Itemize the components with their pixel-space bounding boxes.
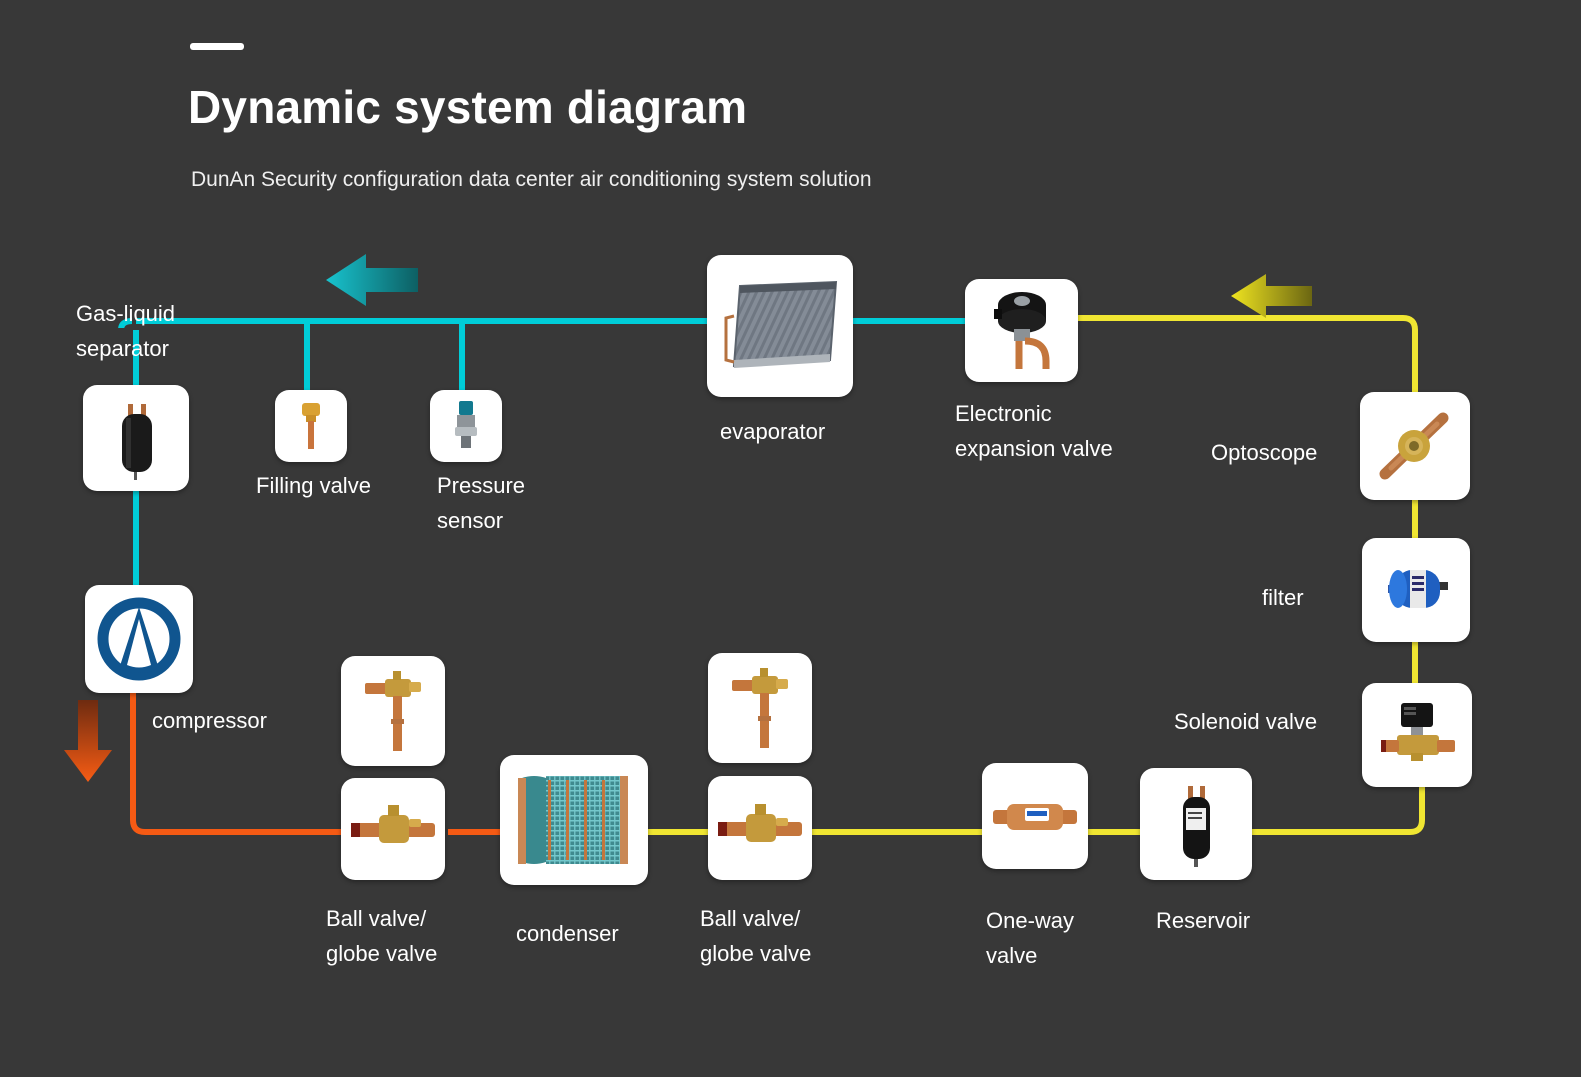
node-ball-valve-right[interactable]	[708, 776, 812, 880]
label-gas-liquid-separator-line2: separator	[76, 331, 169, 366]
label-eev-line1: Electronic	[955, 396, 1052, 431]
ball-valve-icon	[343, 779, 443, 879]
charging-valve-icon	[276, 391, 346, 461]
label-ball-valve-right-line2: globe valve	[700, 936, 811, 971]
node-optoscope[interactable]	[1360, 392, 1470, 500]
suction-line-branch-filling-valve	[304, 321, 310, 393]
node-filling-valve[interactable]	[275, 390, 347, 462]
label-condenser: condenser	[516, 916, 619, 951]
node-compressor[interactable]	[85, 585, 193, 693]
node-globe-valve-right[interactable]	[708, 653, 812, 763]
check-valve-icon	[985, 766, 1085, 866]
suction-line-horizontal	[118, 318, 718, 328]
label-solenoid-valve: Solenoid valve	[1174, 704, 1317, 739]
label-optoscope: Optoscope	[1211, 435, 1317, 470]
label-one-way-valve-line1: One-way	[986, 903, 1074, 938]
node-one-way-valve[interactable]	[982, 763, 1088, 869]
discharge-flow-arrow	[62, 700, 114, 782]
node-electronic-expansion-valve[interactable]	[965, 279, 1078, 382]
condenser-coil-icon	[504, 760, 644, 880]
node-reservoir[interactable]	[1140, 768, 1252, 880]
accumulator-tank-icon	[86, 388, 186, 488]
receiver-tank-icon	[1146, 774, 1246, 874]
liquid-flow-arrow	[1228, 272, 1312, 320]
label-eev-line2: expansion valve	[955, 431, 1113, 466]
node-solenoid-valve[interactable]	[1362, 683, 1472, 787]
page-title: Dynamic system diagram	[188, 80, 747, 134]
label-ball-valve-left-line1: Ball valve/	[326, 901, 426, 936]
diagram-canvas: Dynamic system diagram DunAn Security co…	[0, 0, 1581, 1077]
title-accent-rule	[190, 43, 244, 50]
expansion-valve-icon	[972, 283, 1072, 378]
label-filter: filter	[1262, 580, 1304, 615]
label-filling-valve: Filling valve	[256, 468, 371, 503]
label-ball-valve-left-line2: globe valve	[326, 936, 437, 971]
ball-valve-icon	[710, 778, 810, 878]
node-gas-liquid-separator[interactable]	[83, 385, 189, 491]
filter-drier-icon	[1366, 540, 1466, 640]
page-subtitle: DunAn Security configuration data center…	[191, 168, 872, 192]
label-one-way-valve-line2: valve	[986, 938, 1037, 973]
evaporator-coil-icon	[710, 256, 850, 396]
node-pressure-sensor[interactable]	[430, 390, 502, 462]
label-ball-valve-right-line1: Ball valve/	[700, 901, 800, 936]
node-filter[interactable]	[1362, 538, 1470, 642]
label-pressure-sensor-line2: sensor	[437, 503, 503, 538]
label-compressor: compressor	[152, 703, 267, 738]
node-evaporator[interactable]	[707, 255, 853, 397]
label-pressure-sensor-line1: Pressure	[437, 468, 525, 503]
ball-valve-icon	[343, 661, 443, 761]
label-gas-liquid-separator-line1: Gas-liquid	[76, 296, 175, 331]
suction-flow-arrow	[322, 252, 418, 308]
sight-glass-icon	[1365, 396, 1465, 496]
solenoid-valve-icon	[1367, 685, 1467, 785]
node-globe-valve-left[interactable]	[341, 656, 445, 766]
label-reservoir: Reservoir	[1156, 903, 1250, 938]
ball-valve-icon	[710, 658, 810, 758]
compressor-logo-icon	[89, 589, 189, 689]
suction-line-branch-pressure-sensor	[459, 321, 465, 393]
node-ball-valve-left[interactable]	[341, 778, 445, 880]
label-evaporator: evaporator	[720, 414, 825, 449]
suction-line-evaporator-to-eev	[850, 318, 975, 324]
pressure-sensor-icon	[431, 391, 501, 461]
node-condenser[interactable]	[500, 755, 648, 885]
